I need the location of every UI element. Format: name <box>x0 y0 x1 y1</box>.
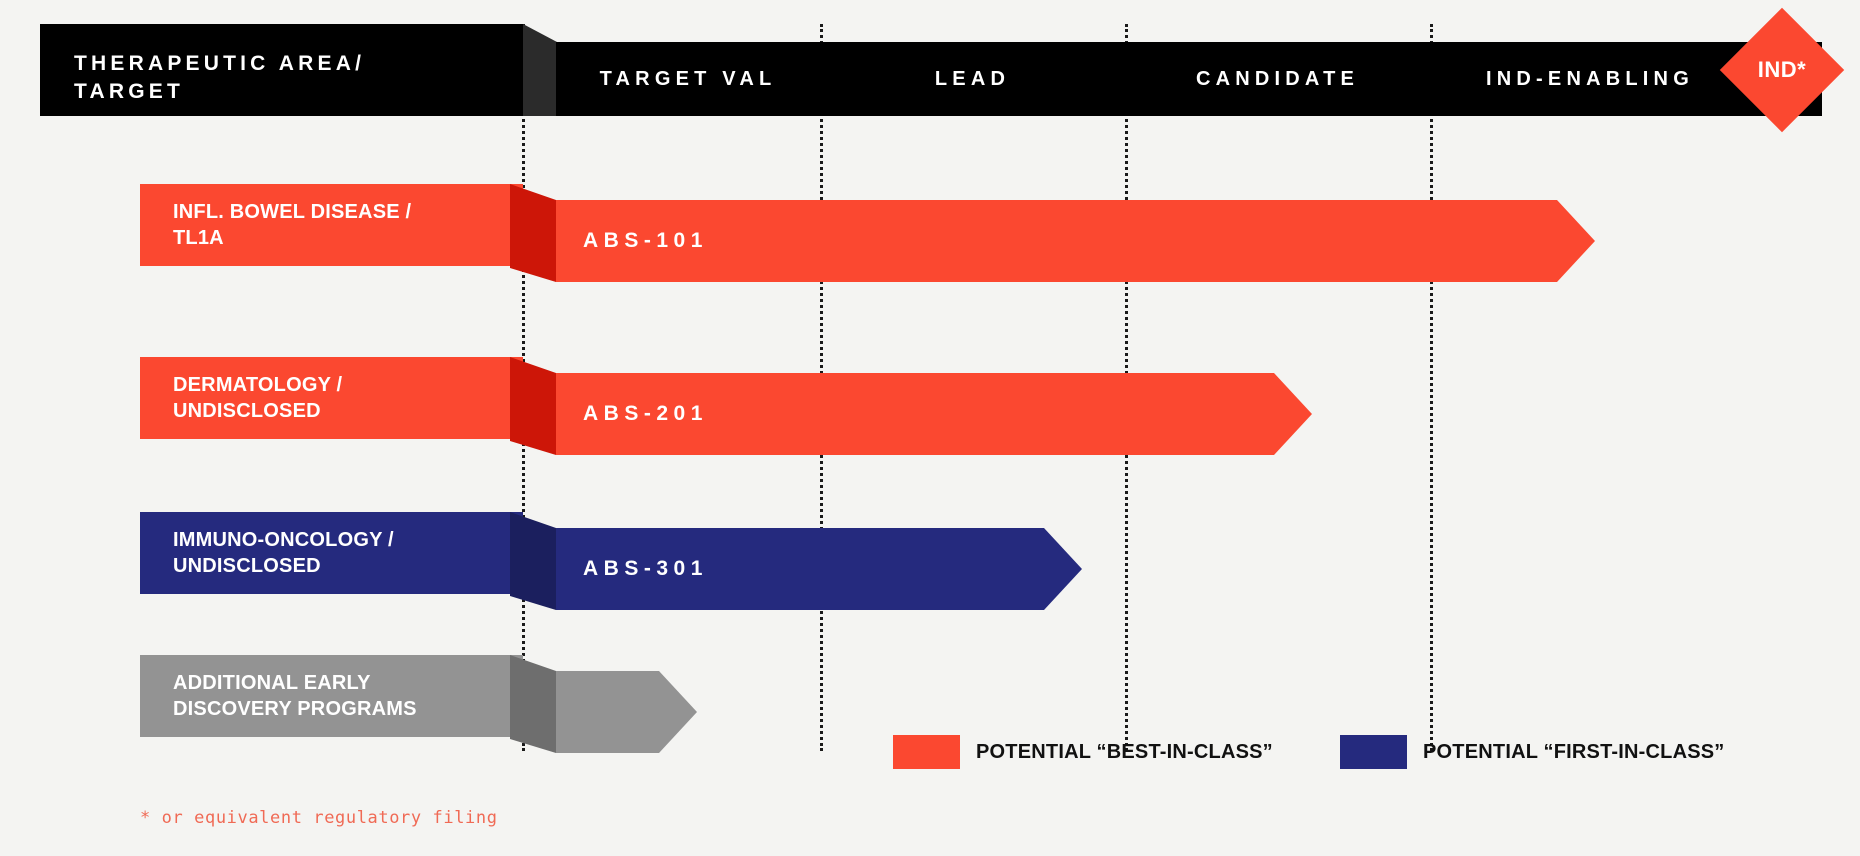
legend-swatch-navy <box>1340 735 1407 769</box>
legend-swatch-red <box>893 735 960 769</box>
row-label-block: IMMUNO-ONCOLOGY /UNDISCLOSED <box>140 512 523 594</box>
row-progress-bar: ABS-201 <box>556 373 1312 455</box>
row-program-code: ABS-201 <box>583 373 708 455</box>
legend-label: POTENTIAL “FIRST-IN-CLASS” <box>1423 741 1725 764</box>
header-fold-triangle <box>523 24 557 116</box>
row-label-block: INFL. BOWEL DISEASE /TL1A <box>140 184 523 266</box>
row-label-block: DERMATOLOGY /UNDISCLOSED <box>140 357 523 439</box>
header-title-line-1: THERAPEUTIC AREA/ <box>74 50 524 78</box>
row-fold-triangle <box>510 357 556 455</box>
stage-label-candidate: CANDIDATE <box>1125 42 1430 116</box>
ind-milestone-label: IND* <box>1738 26 1826 114</box>
stage-label-ind-enabling: IND-ENABLING <box>1430 42 1750 116</box>
footnote-text: * or equivalent regulatory filing <box>140 808 498 828</box>
row-program-code: ABS-101 <box>583 200 708 282</box>
legend-item: POTENTIAL “BEST-IN-CLASS” <box>893 735 1273 769</box>
stage-label-lead: LEAD <box>820 42 1125 116</box>
row-bar-shape <box>556 671 697 753</box>
header-title-line-2: TARGET <box>74 78 524 106</box>
row-label-block: ADDITIONAL EARLYDISCOVERY PROGRAMS <box>140 655 523 737</box>
row-label-line-2: UNDISCLOSED <box>173 553 523 579</box>
row-label-line-1: DERMATOLOGY / <box>173 372 523 398</box>
legend-item: POTENTIAL “FIRST-IN-CLASS” <box>1340 735 1725 769</box>
row-fold-triangle <box>510 184 556 282</box>
row-bar-shape <box>556 200 1595 282</box>
legend-label: POTENTIAL “BEST-IN-CLASS” <box>976 741 1273 764</box>
stage-label-target-val: TARGET VAL <box>556 42 820 116</box>
row-label-line-2: TL1A <box>173 225 523 251</box>
row-progress-bar: ABS-301 <box>556 528 1082 610</box>
row-label-line-1: INFL. BOWEL DISEASE / <box>173 199 523 225</box>
stage-divider-3 <box>1430 24 1433 751</box>
row-program-code: ABS-301 <box>583 528 708 610</box>
row-label-line-2: UNDISCLOSED <box>173 398 523 424</box>
row-label-line-1: IMMUNO-ONCOLOGY / <box>173 527 523 553</box>
row-fold-triangle <box>510 512 556 610</box>
row-progress-bar: ABS-101 <box>556 200 1595 282</box>
header-therapeutic-area-block: THERAPEUTIC AREA/ TARGET <box>40 24 524 116</box>
row-progress-bar <box>556 671 697 753</box>
row-fold-triangle <box>510 655 556 753</box>
row-label-line-1: ADDITIONAL EARLY <box>173 670 523 696</box>
row-label-line-2: DISCOVERY PROGRAMS <box>173 696 523 722</box>
